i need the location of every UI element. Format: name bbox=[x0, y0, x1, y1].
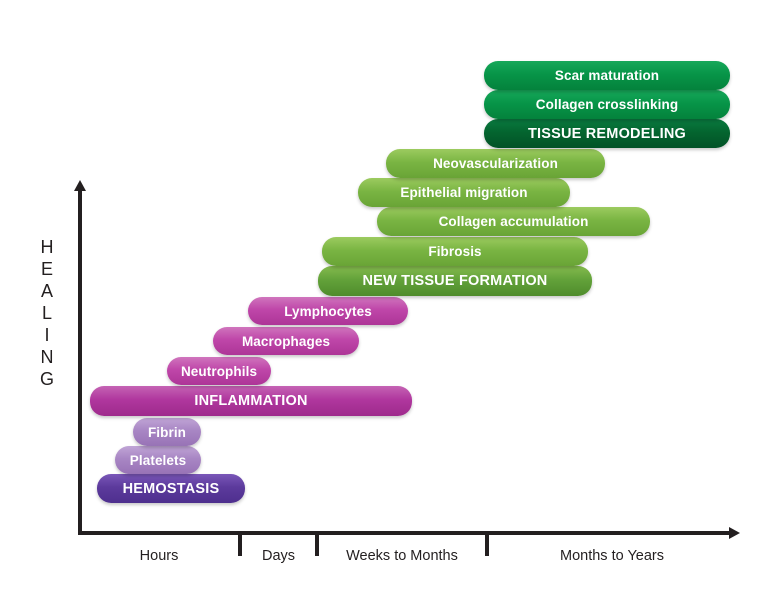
y-axis-letter-g: G bbox=[34, 368, 60, 390]
y-axis-letter-e: E bbox=[34, 258, 60, 280]
bar-neovascularization: Neovascularization bbox=[386, 149, 605, 178]
bar-epithelial-migration: Epithelial migration bbox=[358, 178, 570, 207]
y-axis-letter-h: H bbox=[34, 236, 60, 258]
bar-label: Platelets bbox=[116, 453, 200, 468]
bar-label: Fibrosis bbox=[414, 244, 495, 259]
y-axis-letter-a: A bbox=[34, 280, 60, 302]
y-axis-letter-l: L bbox=[34, 302, 60, 324]
bar-collagen-crosslinking: Collagen crosslinking bbox=[484, 90, 730, 119]
x-axis-segment-label-days: Days bbox=[240, 548, 317, 564]
bar-label: NEW TISSUE FORMATION bbox=[349, 273, 562, 289]
bar-platelets: Platelets bbox=[115, 446, 201, 474]
x-axis-segment-label-months-to-years: Months to Years bbox=[487, 548, 737, 564]
wound-healing-timeline-diagram: H E A L I N G HoursDaysWeeks to MonthsMo… bbox=[0, 0, 768, 596]
bar-lymphocytes: Lymphocytes bbox=[248, 297, 408, 325]
bar-label: Scar maturation bbox=[541, 68, 673, 83]
y-axis-letter-n: N bbox=[34, 346, 60, 368]
x-axis-segment-label-hours: Hours bbox=[78, 548, 240, 564]
bar-new-tissue-formation: NEW TISSUE FORMATION bbox=[318, 266, 592, 296]
bar-hemostasis: HEMOSTASIS bbox=[97, 474, 245, 503]
bar-label: Fibrin bbox=[134, 425, 200, 440]
x-axis-arrow-icon bbox=[729, 527, 740, 539]
bar-label: Collagen accumulation bbox=[425, 214, 603, 229]
bar-label: Neutrophils bbox=[167, 364, 271, 379]
bar-label: Epithelial migration bbox=[386, 185, 541, 200]
bar-label: Neovascularization bbox=[419, 156, 572, 171]
bar-neutrophils: Neutrophils bbox=[167, 357, 271, 385]
bar-tissue-remodeling: TISSUE REMODELING bbox=[484, 119, 730, 148]
bar-scar-maturation: Scar maturation bbox=[484, 61, 730, 90]
y-axis-label: H E A L I N G bbox=[34, 236, 60, 390]
bar-macrophages: Macrophages bbox=[213, 327, 359, 355]
bar-label: TISSUE REMODELING bbox=[514, 126, 700, 142]
y-axis-letter-i: I bbox=[34, 324, 60, 346]
bar-label: Collagen crosslinking bbox=[522, 97, 692, 112]
y-axis-arrow-icon bbox=[74, 180, 86, 191]
bar-label: Lymphocytes bbox=[270, 304, 386, 319]
y-axis-line bbox=[78, 190, 82, 535]
bar-inflammation: INFLAMMATION bbox=[90, 386, 412, 416]
bar-fibrin: Fibrin bbox=[133, 418, 201, 446]
x-axis-line bbox=[78, 531, 729, 535]
bar-collagen-accumulation: Collagen accumulation bbox=[377, 207, 650, 236]
x-axis-segment-label-weeks-to-months: Weeks to Months bbox=[317, 548, 487, 564]
bar-label: HEMOSTASIS bbox=[109, 481, 234, 497]
bar-label: Macrophages bbox=[228, 334, 344, 349]
bar-fibrosis: Fibrosis bbox=[322, 237, 588, 266]
bar-label: INFLAMMATION bbox=[180, 393, 321, 409]
